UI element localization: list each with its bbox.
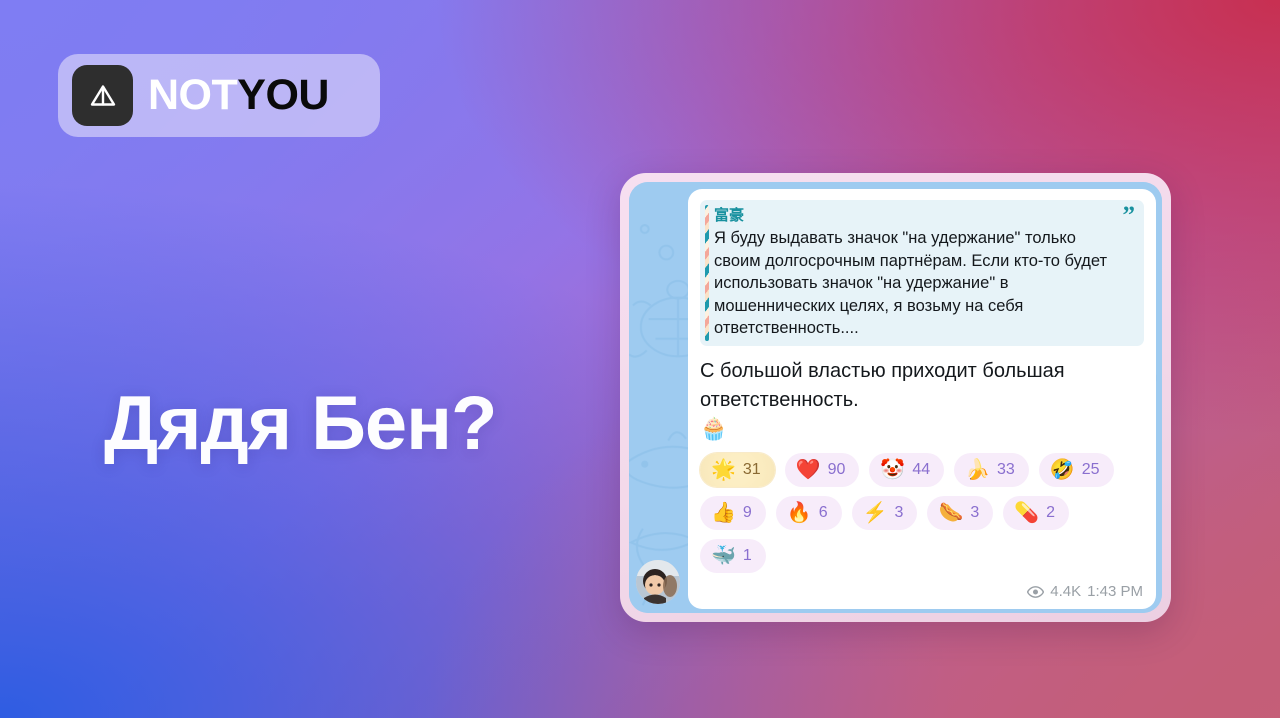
clown-icon: 🤡 xyxy=(880,460,905,480)
message-screenshot-card: ” 富豪 Я буду выдавать значок "на удержани… xyxy=(620,173,1171,622)
reaction-count: 90 xyxy=(828,462,846,478)
quote-author: 富豪 xyxy=(714,206,1118,226)
view-count: 4.4K xyxy=(1050,583,1081,600)
star-icon: 🌟 xyxy=(711,460,736,480)
message-bubble: ” 富豪 Я буду выдавать значок "на удержани… xyxy=(688,189,1156,609)
reaction-list: 🌟31❤️90🤡44🍌33🤣25👍9🔥6⚡3🌭3💊2🐳1 xyxy=(700,453,1144,573)
reaction-count: 9 xyxy=(743,505,752,521)
quote-text: Я буду выдавать значок "на удержание" то… xyxy=(714,227,1118,339)
reaction-count: 31 xyxy=(743,462,761,478)
cupcake-emoji: 🧁 xyxy=(700,416,1144,442)
brand-badge: NOTYOU xyxy=(58,54,380,137)
pill-icon: 💊 xyxy=(1014,503,1039,523)
reaction-chip-star[interactable]: 🌟31 xyxy=(700,453,775,487)
reaction-chip-pill[interactable]: 💊2 xyxy=(1003,496,1069,530)
reaction-chip-hotdog[interactable]: 🌭3 xyxy=(927,496,993,530)
brand-name-primary: NOT xyxy=(148,71,237,119)
chat-view: ” 富豪 Я буду выдавать значок "на удержани… xyxy=(629,182,1162,613)
reaction-chip-whale[interactable]: 🐳1 xyxy=(700,539,766,573)
quote-stripe xyxy=(705,205,709,341)
reaction-count: 44 xyxy=(912,462,930,478)
reaction-chip-rofl[interactable]: 🤣25 xyxy=(1039,453,1114,487)
reaction-chip-clown[interactable]: 🤡44 xyxy=(869,453,944,487)
avatar[interactable] xyxy=(636,560,680,604)
whale-icon: 🐳 xyxy=(711,546,736,566)
reaction-count: 2 xyxy=(1046,505,1055,521)
thumbs-up-icon: 👍 xyxy=(711,503,736,523)
reaction-chip-banana[interactable]: 🍌33 xyxy=(954,453,1029,487)
brand-name-secondary: YOU xyxy=(237,71,329,119)
reaction-chip-heart[interactable]: ❤️90 xyxy=(785,453,860,487)
reaction-count: 25 xyxy=(1082,462,1100,478)
quoted-message[interactable]: ” 富豪 Я буду выдавать значок "на удержани… xyxy=(700,200,1144,346)
warning-triangle-icon xyxy=(72,65,133,126)
brand-wordmark: NOTYOU xyxy=(148,74,329,117)
message-meta: 4.4K 1:43 PM xyxy=(1027,583,1143,600)
banana-icon: 🍌 xyxy=(965,460,990,480)
page-title: Дядя Бен? xyxy=(104,386,496,462)
reaction-count: 1 xyxy=(743,548,752,564)
fire-icon: 🔥 xyxy=(787,503,812,523)
hotdog-icon: 🌭 xyxy=(938,503,963,523)
quote-mark-icon: ” xyxy=(1123,203,1136,228)
lightning-icon: ⚡ xyxy=(863,503,888,523)
reaction-count: 3 xyxy=(895,505,904,521)
reaction-count: 6 xyxy=(819,505,828,521)
rofl-icon: 🤣 xyxy=(1050,460,1075,480)
reaction-chip-fire[interactable]: 🔥6 xyxy=(776,496,842,530)
reaction-chip-thumbs-up[interactable]: 👍9 xyxy=(700,496,766,530)
timestamp: 1:43 PM xyxy=(1087,583,1143,600)
message-text: С большой властью приходит большая ответ… xyxy=(700,357,1144,415)
reaction-count: 33 xyxy=(997,462,1015,478)
reaction-chip-lightning[interactable]: ⚡3 xyxy=(852,496,918,530)
heart-icon: ❤️ xyxy=(796,460,821,480)
reaction-count: 3 xyxy=(970,505,979,521)
eye-icon xyxy=(1027,586,1044,598)
